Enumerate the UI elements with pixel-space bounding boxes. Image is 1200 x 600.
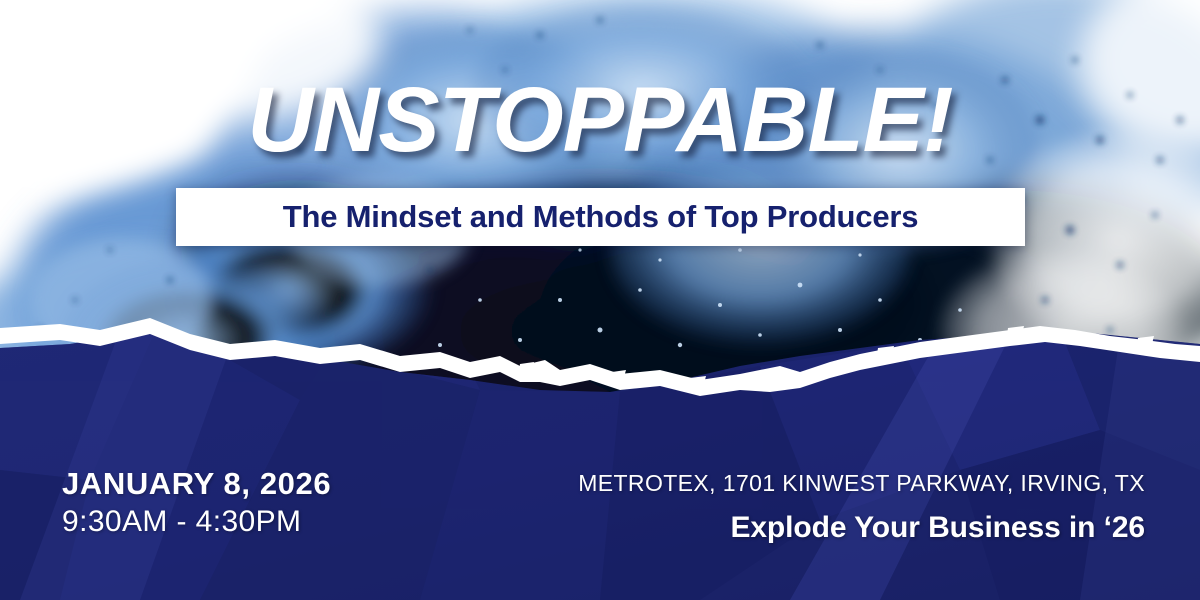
event-venue: METROTEX, 1701 KINWEST PARKWAY, IRVING, … (578, 470, 1145, 497)
event-tagline: Explode Your Business in ‘26 (578, 511, 1145, 545)
event-banner: UNSTOPPABLE! The Mindset and Methods of … (0, 0, 1200, 600)
event-date: JANUARY 8, 2026 (62, 466, 331, 502)
page-title: UNSTOPPABLE! (0, 74, 1200, 166)
event-time: 9:30AM - 4:30PM (62, 502, 331, 543)
event-venue-block: METROTEX, 1701 KINWEST PARKWAY, IRVING, … (578, 470, 1145, 545)
subtitle-text: The Mindset and Methods of Top Producers (283, 199, 919, 235)
event-date-block: JANUARY 8, 2026 9:30AM - 4:30PM (62, 466, 331, 542)
subtitle-bar: The Mindset and Methods of Top Producers (176, 188, 1025, 246)
